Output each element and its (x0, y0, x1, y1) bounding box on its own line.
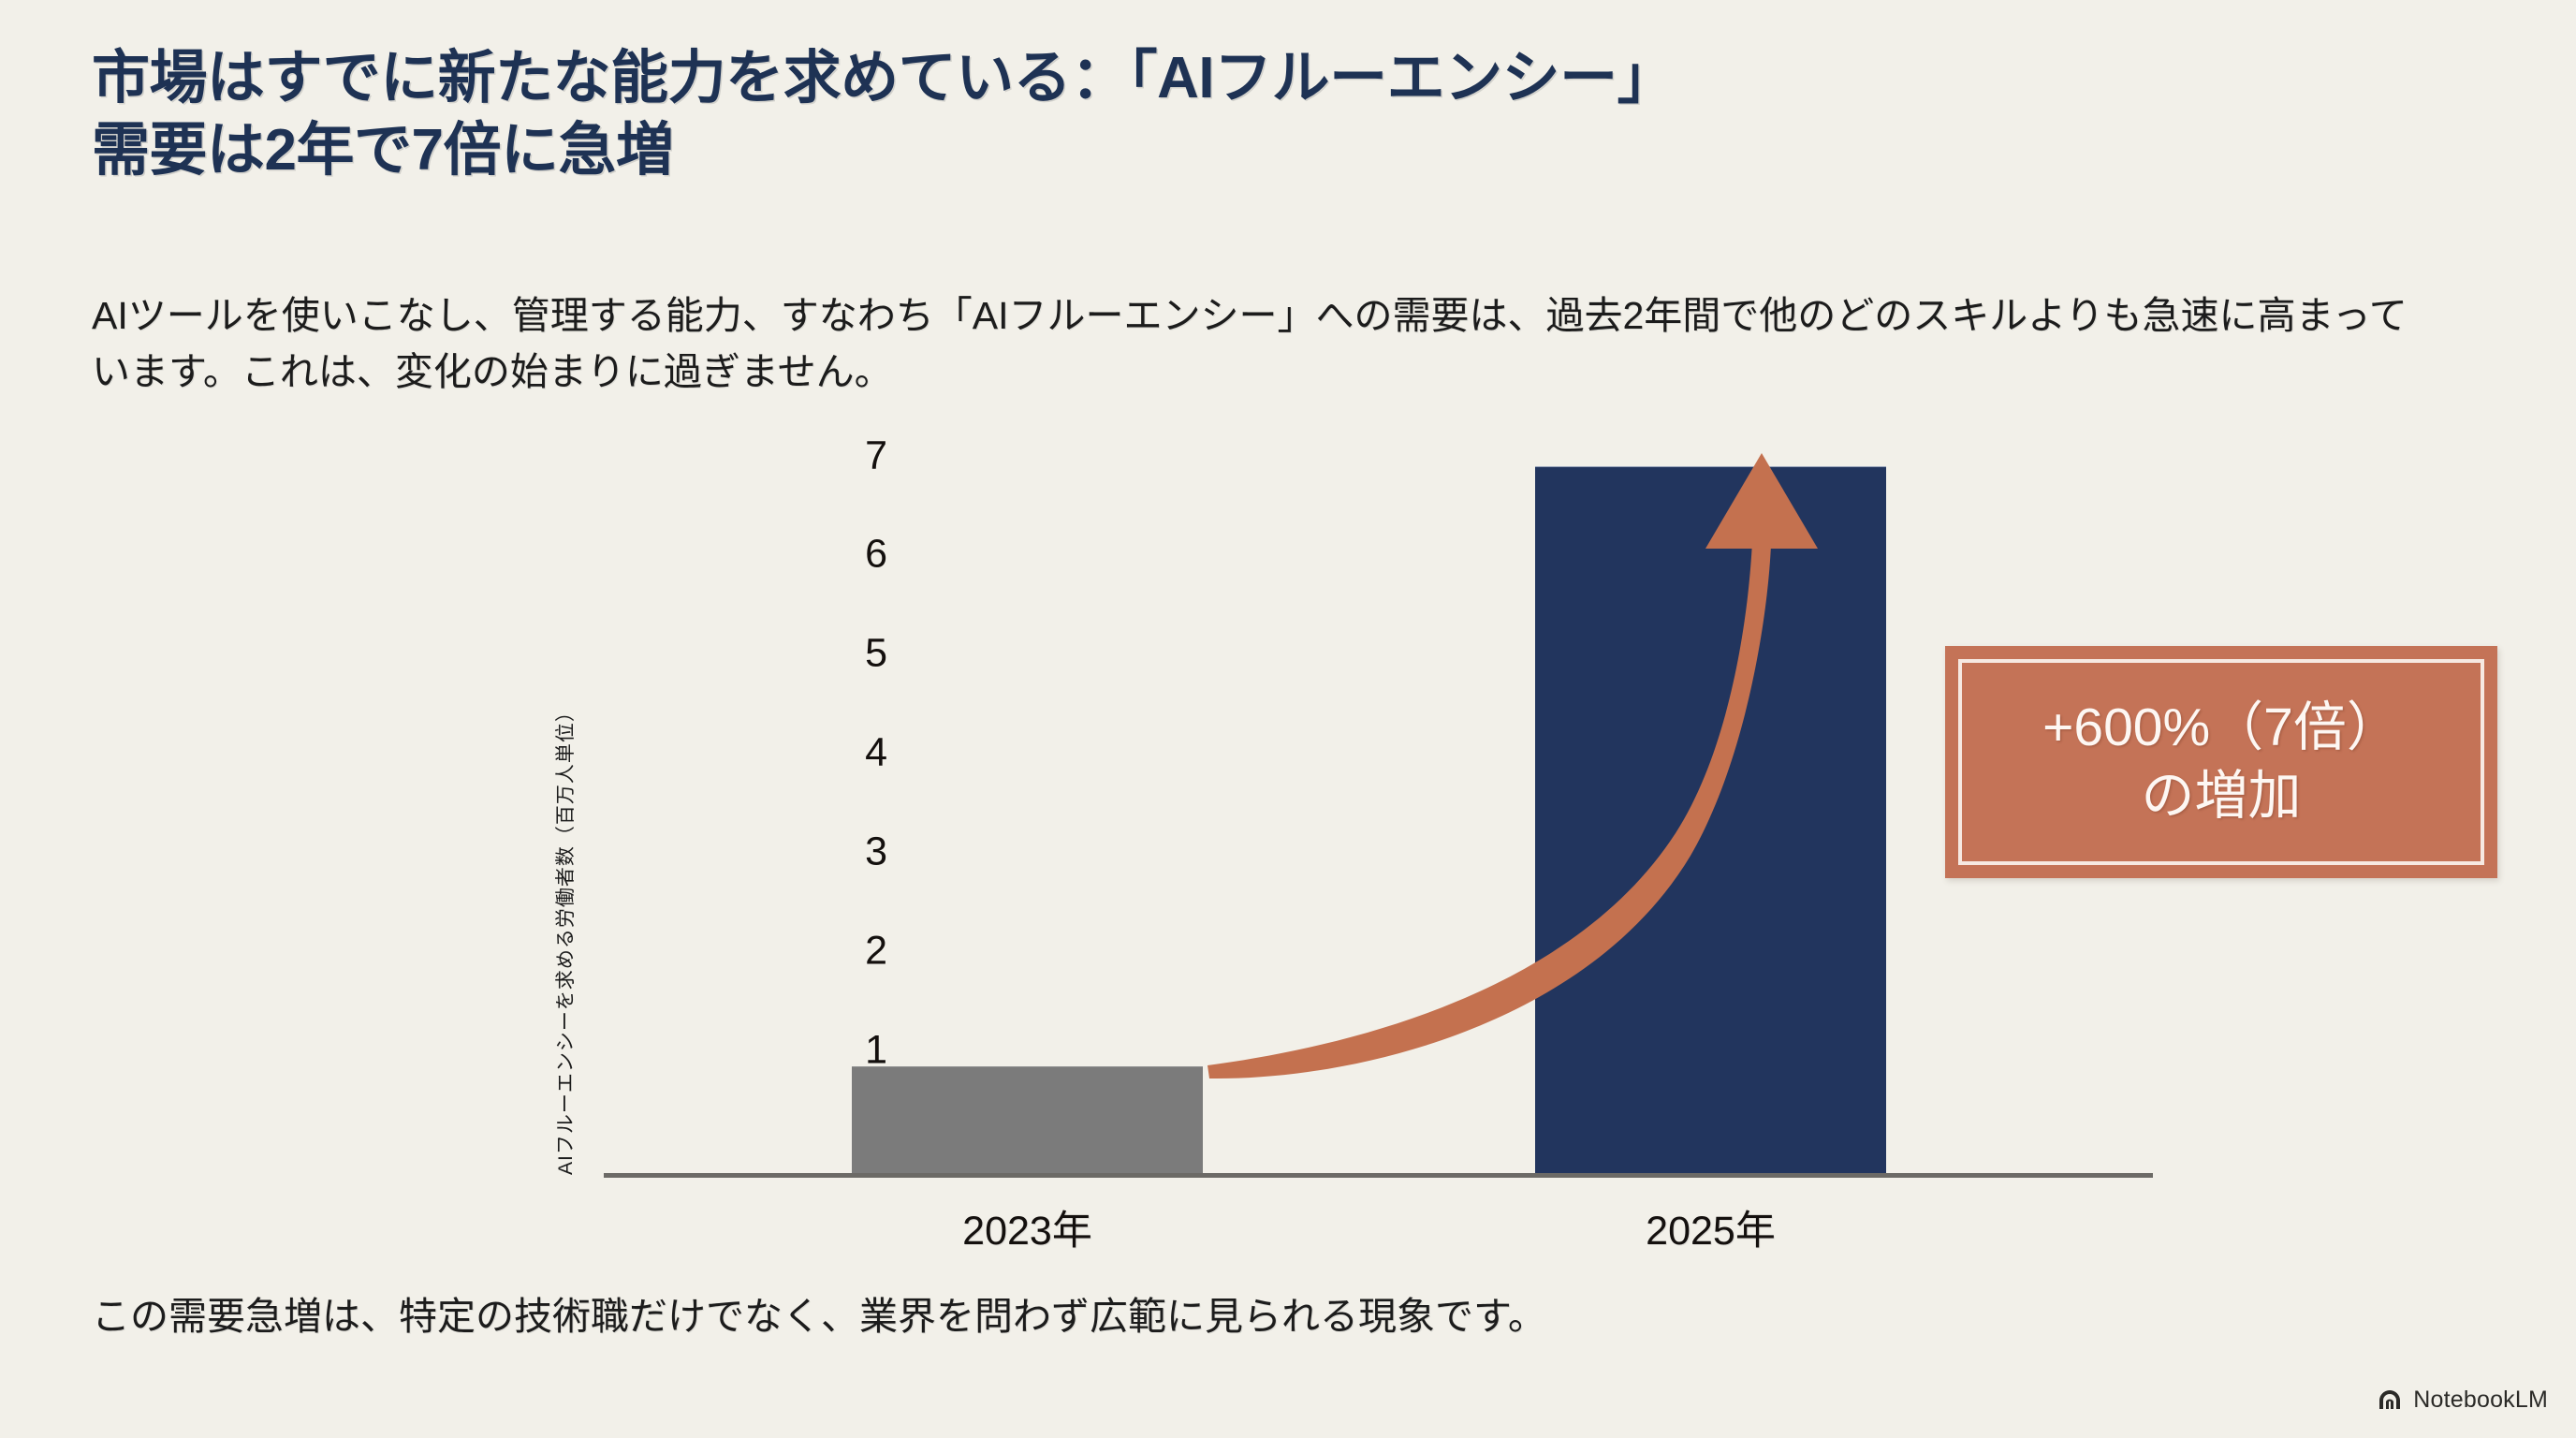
bar-chart: AIフルーエンシーを求める労働者数（百万人単位） 7 6 5 4 3 2 1 0… (562, 440, 2153, 1189)
y-tick-3: 3 (831, 832, 887, 873)
y-tick-4: 4 (831, 733, 887, 773)
callout-line-2: の増加 (2142, 762, 2302, 830)
x-tick-2023: 2023年 (852, 1198, 1203, 1256)
title-line-2: 需要は2年で7倍に急増 (92, 115, 2338, 187)
y-tick-6: 6 (831, 535, 887, 575)
x-tick-2025: 2025年 (1535, 1198, 1886, 1256)
slide-canvas: 市場はすでに新たな能力を求めている：「AIフルーエンシー」 需要は2年で7倍に急… (0, 0, 2576, 1438)
bar-2025 (1535, 466, 1886, 1173)
y-axis-title-wrapper: AIフルーエンシーを求める労働者数（百万人単位） (562, 440, 599, 1180)
brand-logo: NotebookLM (2377, 1387, 2548, 1414)
y-axis-label: AIフルーエンシーを求める労働者数（百万人単位） (550, 520, 578, 1175)
y-tick-1: 1 (831, 1031, 887, 1071)
y-tick-2: 2 (831, 932, 887, 972)
page-title: 市場はすでに新たな能力を求めている：「AIフルーエンシー」 需要は2年で7倍に急… (92, 43, 2338, 187)
callout-inner-frame: +600%（7倍） の増加 (1958, 659, 2484, 865)
brand-label: NotebookLM (2413, 1387, 2548, 1414)
growth-arrow-icon (562, 440, 2153, 1189)
y-tick-7: 7 (831, 436, 887, 477)
callout-line-1: +600%（7倍） (2042, 694, 2400, 762)
x-axis-line (604, 1173, 2153, 1178)
bar-2023 (852, 1066, 1203, 1173)
notebooklm-arc-icon (2377, 1389, 2405, 1412)
y-tick-5: 5 (831, 634, 887, 674)
title-line-1: 市場はすでに新たな能力を求めている：「AIフルーエンシー」 (92, 43, 2338, 115)
status-badge: +600%（7倍） の増加 (1945, 646, 2497, 878)
subtitle-paragraph: AIツールを使いこなし、管理する能力、すなわち「AIフルーエンシー」への需要は、… (92, 288, 2432, 401)
footer-caption: この需要急増は、特定の技術職だけでなく、業界を問わず広範に見られる現象です。 (92, 1290, 1546, 1343)
